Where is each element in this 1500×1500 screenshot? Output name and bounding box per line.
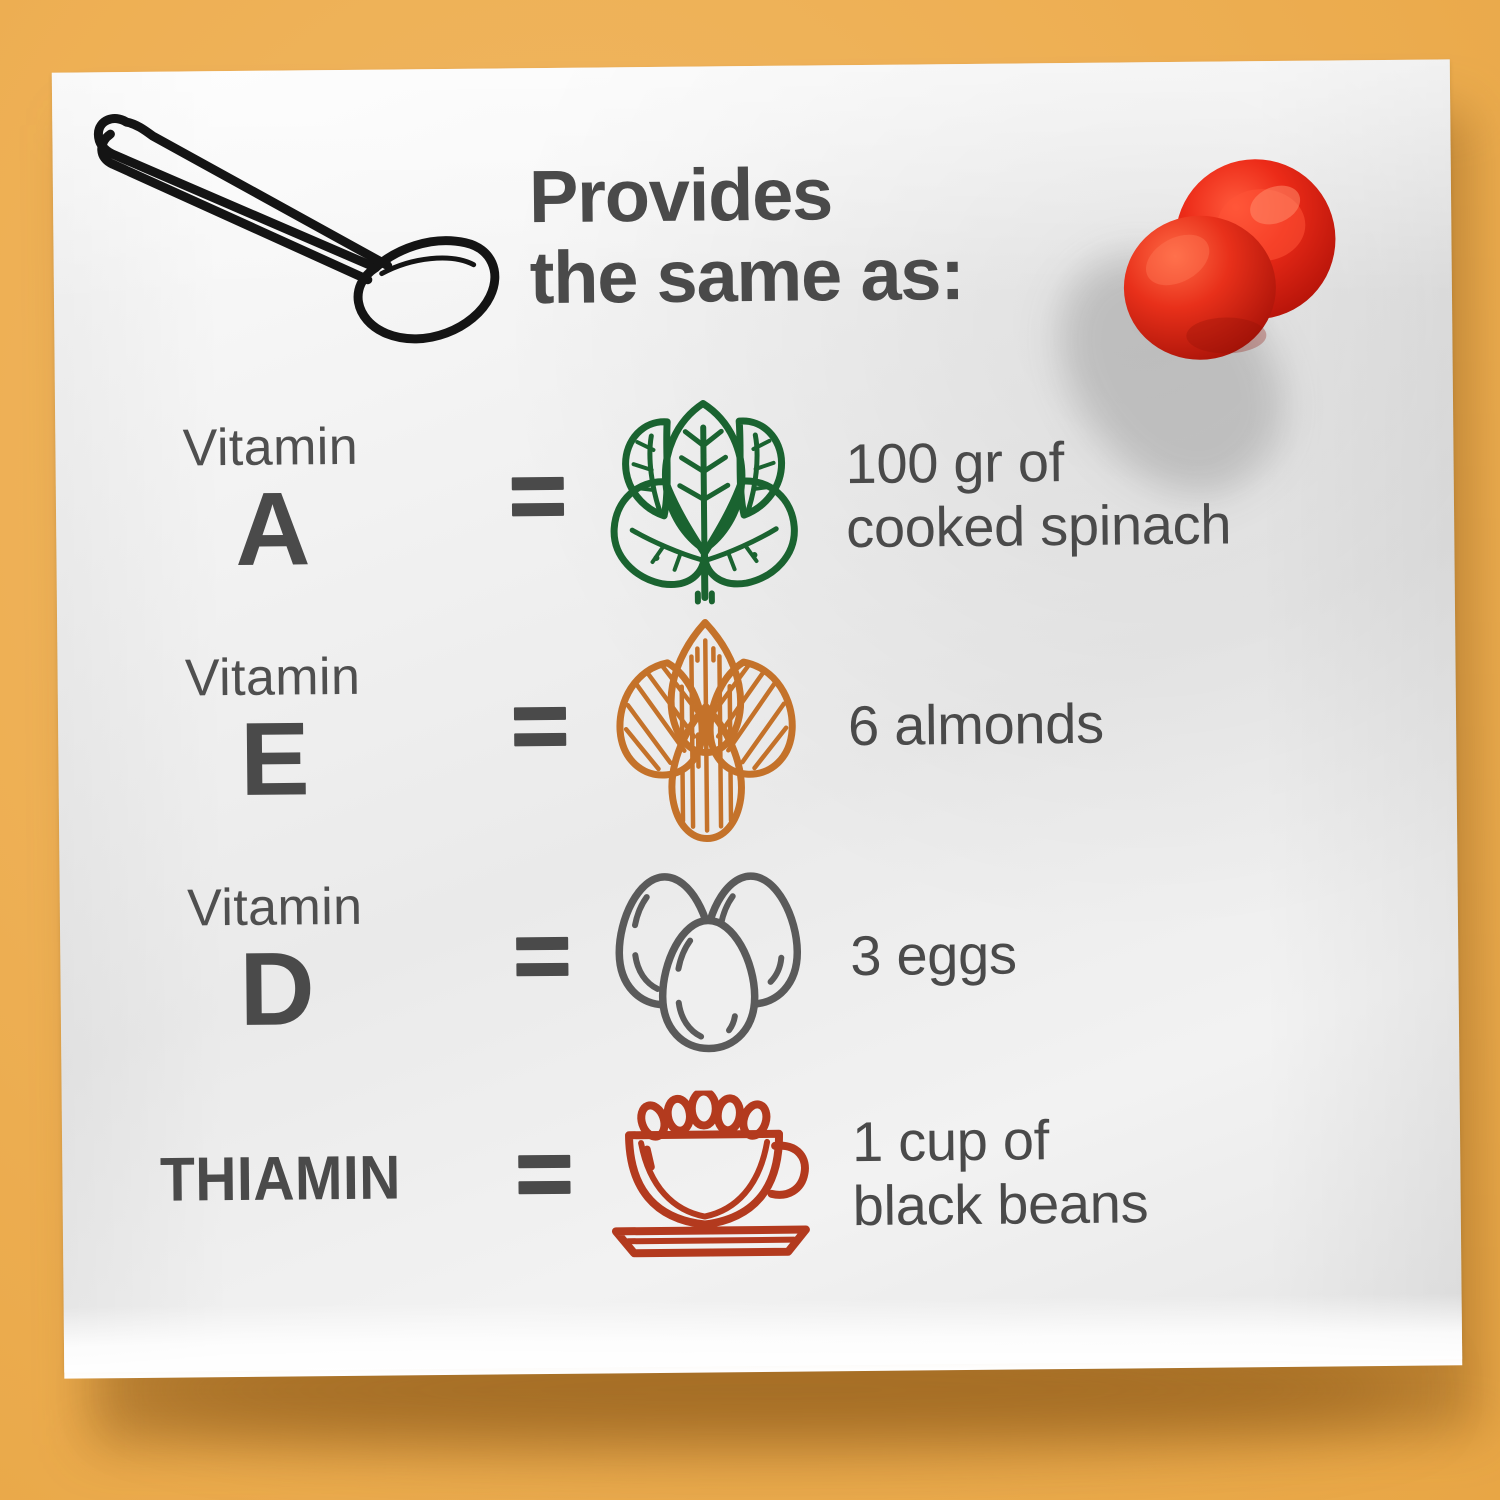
vitamin-word: Vitamin (49, 420, 491, 476)
label-thiamin: THIAMIN (62, 1142, 499, 1217)
equivalent-line-2: cooked spinach (846, 490, 1455, 560)
equals-sign-a (492, 477, 584, 522)
spinach-icon (583, 386, 825, 608)
row-thiamin: THIAMIN (61, 1065, 1461, 1283)
infographic-canvas: Provides the same as: (0, 0, 1500, 1500)
eggs-icon (587, 861, 829, 1053)
page-title: Provides the same as: (529, 150, 1151, 319)
equals-sign-thiamin (498, 1154, 590, 1199)
thiamin-label: THIAMIN (80, 1142, 482, 1217)
label-vitamin-d: Vitamin D (60, 880, 498, 1044)
equivalence-list: Vitamin A (55, 375, 1462, 1283)
vitamin-letter: A (52, 476, 493, 584)
cup-of-beans-icon (590, 1089, 832, 1261)
equivalent-text-e: 6 almonds (826, 688, 1457, 758)
equals-sign-e (494, 707, 586, 752)
vitamin-word: Vitamin (54, 880, 496, 936)
equivalent-line-1: 1 cup of (852, 1104, 1461, 1174)
label-vitamin-a: Vitamin A (55, 420, 493, 584)
equivalent-line-1: 6 almonds (848, 688, 1457, 758)
vitamin-word: Vitamin (51, 650, 493, 706)
equivalent-text-thiamin: 1 cup of black beans (830, 1104, 1461, 1238)
equivalent-line-1: 100 gr of (845, 426, 1454, 496)
row-vitamin-e: Vitamin E (57, 605, 1457, 848)
title-line-2: the same as: (529, 232, 1150, 319)
vitamin-letter: D (56, 936, 497, 1044)
equivalent-line-2: black beans (852, 1168, 1461, 1238)
vitamin-letter: E (54, 706, 495, 814)
label-vitamin-e: Vitamin E (57, 650, 495, 814)
equivalent-text-d: 3 eggs (828, 918, 1459, 988)
sticky-note: Provides the same as: (52, 59, 1462, 1372)
row-vitamin-a: Vitamin A (55, 375, 1455, 618)
almonds-icon (585, 611, 827, 843)
pushpin-icon (1102, 138, 1364, 400)
equals-sign-d (496, 937, 588, 982)
equivalent-line-1: 3 eggs (850, 918, 1459, 988)
spoon-icon (74, 96, 506, 350)
row-vitamin-d: Vitamin D (59, 835, 1459, 1078)
equivalent-text-a: 100 gr of cooked spinach (823, 426, 1454, 560)
title-line-1: Provides (529, 150, 1150, 237)
